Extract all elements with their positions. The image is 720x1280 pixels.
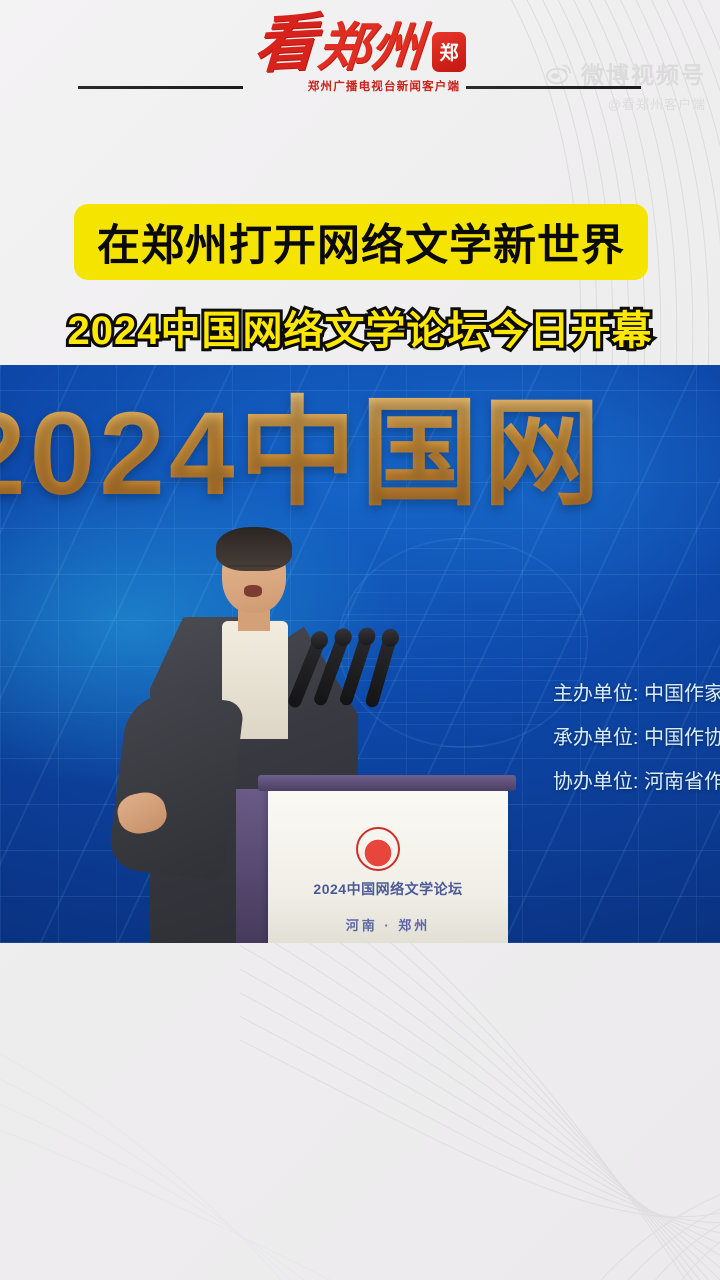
watermark-row: 微博视频号	[546, 56, 706, 90]
page-title: 在郑州打开网络文学新世界	[97, 211, 625, 273]
logo-subtitle: 郑州广播电视台新闻客户端	[308, 78, 460, 94]
weibo-icon	[546, 61, 574, 85]
logo-zhengzhou-glyph: 郑州	[316, 23, 427, 75]
page-root: 看 郑州 郑 郑州广播电视台新闻客户端 微博视频号 @看郑州客户端 在郑州打开网…	[0, 0, 720, 1280]
stage-scene: 2024中国网络文学论坛 河南 · 郑州	[0, 365, 720, 943]
podium-event-name: 2024中国网络文学论坛	[278, 879, 498, 899]
watermark-handle: @看郑州客户端	[608, 94, 706, 113]
headline-box: 在郑州打开网络文学新世界	[74, 204, 648, 280]
podium-top-surface	[258, 775, 516, 791]
logo-badge-icon: 郑	[432, 32, 466, 72]
header: 看 郑州 郑 郑州广播电视台新闻客户端 微博视频号 @看郑州客户端	[0, 0, 720, 170]
watermark-platform: 微博视频号	[581, 56, 706, 90]
podium-location: 河南 · 郑州	[278, 915, 498, 934]
speaker-arm	[107, 689, 244, 882]
video-frame[interactable]: 2024中国网 主办单位: 中国作家 承办单位: 中国作协 协办单位: 河南省作	[0, 365, 720, 943]
watermark: 微博视频号 @看郑州客户端	[546, 56, 706, 113]
page-subtitle: 2024中国网络文学论坛今日开幕	[0, 298, 720, 356]
speaker-glasses	[228, 565, 280, 576]
logo-row: 看 郑州 郑	[254, 16, 466, 75]
logo-kan-glyph: 看	[252, 14, 315, 76]
podium-emblem-icon	[356, 827, 400, 871]
speaker-mouth	[244, 585, 262, 597]
